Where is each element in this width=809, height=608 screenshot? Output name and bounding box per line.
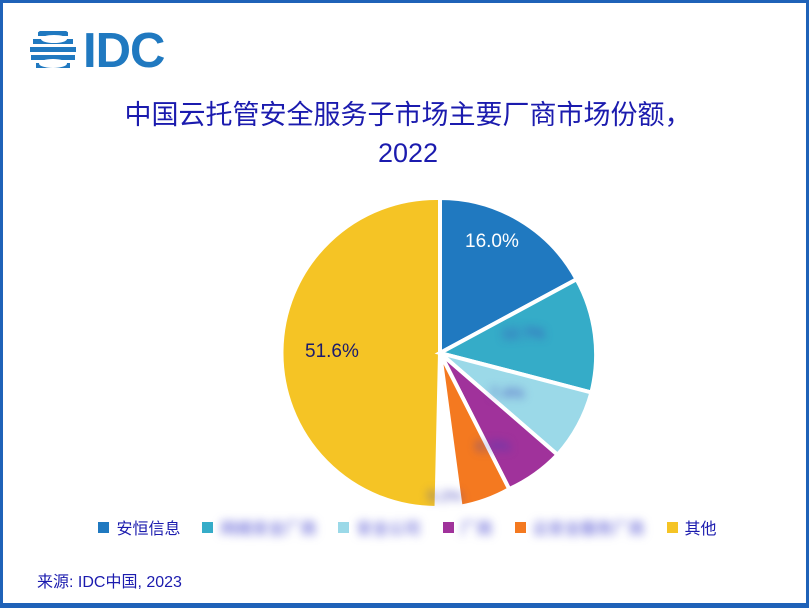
legend-swatch-icon [667, 522, 678, 533]
legend-item-4[interactable]: 云安全服务厂商 [515, 515, 645, 539]
legend-item-0[interactable]: 安恒信息 [98, 515, 180, 539]
legend-swatch-icon [202, 522, 213, 533]
slice-value-purple: 6.3% [476, 438, 510, 455]
legend-item-3[interactable]: 厂商 [443, 515, 493, 539]
slice-value-teal: 12.7% [502, 325, 545, 342]
chart-title: 中国云托管安全服务子市场主要厂商市场份额，2022 [98, 96, 718, 172]
legend-label-2: 安全公司 [356, 515, 420, 539]
legend-item-2[interactable]: 安全公司 [338, 515, 420, 539]
legend-swatch-icon [443, 522, 454, 533]
pie-chart: 16.0% 51.6% 12.7% 7.4% 6.3% 5.2% [3, 188, 809, 518]
legend-label-5: 其他 [685, 515, 717, 539]
slice-value-light-blue: 7.4% [490, 385, 524, 402]
slice-value-orange: 5.2% [428, 488, 462, 505]
legend-swatch-icon [515, 522, 526, 533]
slice-value-blue: 16.0% [465, 231, 519, 253]
slice-value-gold: 51.6% [305, 341, 359, 363]
globe-icon [29, 27, 77, 75]
slide-canvas: IDC 中国云托管安全服务子市场主要厂商市场份额，2022 16.0% 51.6… [0, 0, 809, 608]
logo-wordmark: IDC [83, 27, 164, 75]
legend-label-0: 安恒信息 [116, 515, 180, 539]
legend-item-1[interactable]: 网络安全厂商 [202, 515, 316, 539]
legend-item-5[interactable]: 其他 [667, 515, 717, 539]
chart-legend: 安恒信息 网络安全厂商 安全公司 厂商 云安全服务厂商 其他 [3, 515, 809, 539]
legend-label-1: 网络安全厂商 [220, 515, 316, 539]
legend-swatch-icon [338, 522, 349, 533]
source-note: 来源: IDC中国, 2023 [37, 568, 182, 592]
legend-label-3: 厂商 [461, 515, 493, 539]
legend-swatch-icon [98, 522, 109, 533]
legend-label-4: 云安全服务厂商 [533, 515, 645, 539]
idc-logo: IDC [29, 27, 164, 75]
pie-graphic: 16.0% 51.6% 12.7% 7.4% 6.3% 5.2% [280, 193, 600, 513]
